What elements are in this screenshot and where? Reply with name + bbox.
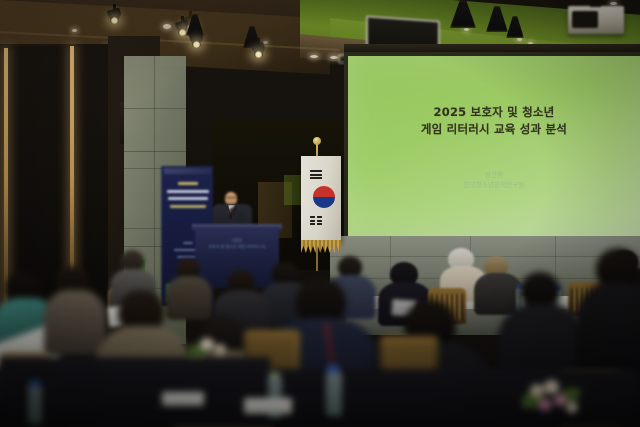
projection-screen <box>348 56 640 238</box>
ceiling-downlight <box>72 29 77 32</box>
ceiling-downlight <box>163 24 171 29</box>
ceiling-downlight <box>310 55 318 58</box>
ceiling-downlight <box>517 38 522 41</box>
ceiling-downlight <box>464 28 469 31</box>
slide-title-line1: 2025 보호자 및 청소년 <box>348 104 640 121</box>
slide-subtitle-line1: 장근영 <box>348 170 640 180</box>
slide-subtitle: 장근영 한국청소년정책연구원 <box>348 170 640 190</box>
slide-title-line2: 게임 리터러시 교육 성과 분석 <box>348 121 640 138</box>
trigram-gon <box>310 216 322 227</box>
banner-title-line <box>168 197 208 200</box>
banner-title-line <box>170 205 206 208</box>
handout-paper <box>162 392 204 406</box>
korean-flag <box>301 156 341 242</box>
flower-arrangement <box>188 336 238 366</box>
water-bottle <box>28 386 42 424</box>
speaker-glasses <box>225 197 237 201</box>
trigram-geon <box>310 170 322 181</box>
podium-sign: 2025 보호자 및 청소년 게임 리터러시 & <box>200 238 274 250</box>
ceiling-projector <box>568 6 624 34</box>
banner-title-line <box>178 182 198 185</box>
water-bottle <box>326 372 342 416</box>
wall-light-strip <box>4 48 8 314</box>
conference-photo: 2025 보호자 및 청소년 게임 리터러시 교육 성과 분석 장근영 한국청소… <box>0 0 640 427</box>
slide-title: 2025 보호자 및 청소년 게임 리터러시 교육 성과 분석 <box>348 104 640 138</box>
ceiling-downlight <box>330 56 338 59</box>
podium-sign-line2: 보호자 및 청소년 게임 리터러시 & <box>200 244 274 250</box>
taeguk-symbol <box>313 186 335 208</box>
flower-arrangement <box>520 378 584 422</box>
slide-subtitle-line2: 한국청소년정책연구원 <box>348 180 640 190</box>
banner-logo <box>164 168 211 174</box>
ceiling-downlight <box>610 2 617 5</box>
handout-paper <box>244 398 292 414</box>
ceiling-downlight <box>263 41 268 44</box>
banner-title-line <box>167 190 209 193</box>
